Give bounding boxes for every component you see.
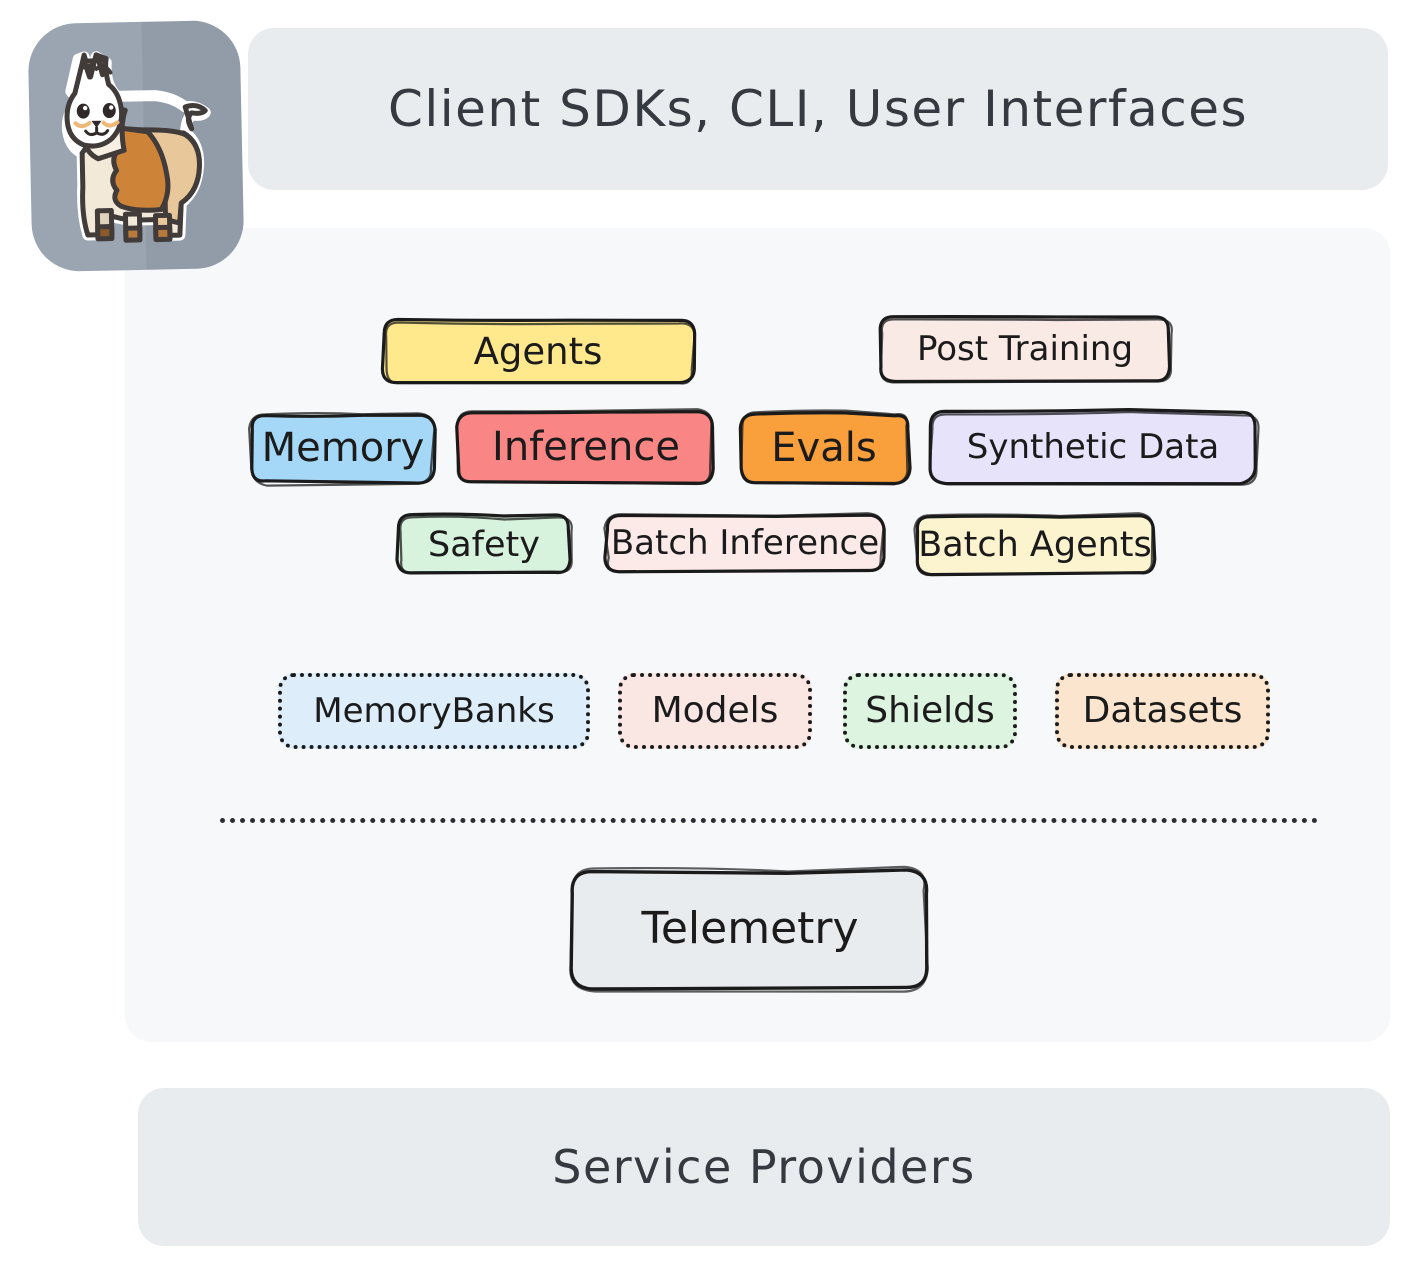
resource-box-models[interactable]: Models (618, 673, 812, 749)
box-label: Memory (262, 428, 425, 468)
architecture-diagram: Client SDKs, CLI, User Interfaces (0, 0, 1410, 1268)
resource-box-label: Models (652, 693, 779, 729)
telemetry-box[interactable]: Telemetry (570, 868, 930, 990)
resource-box-shields[interactable]: Shields (843, 673, 1017, 749)
resource-box-label: Datasets (1083, 693, 1243, 729)
api-box-synthetic-data[interactable]: Synthetic Data (928, 410, 1258, 484)
box-label: Batch Agents (918, 528, 1152, 563)
resource-box-label: MemoryBanks (313, 694, 554, 728)
api-box-evals[interactable]: Evals (738, 412, 910, 484)
api-box-memory[interactable]: Memory (250, 412, 436, 484)
api-box-batch-agents[interactable]: Batch Agents (915, 514, 1155, 576)
box-label: Evals (771, 428, 876, 468)
footer-title: Service Providers (552, 1140, 976, 1194)
telemetry-label: Telemetry (641, 907, 858, 951)
header-title: Client SDKs, CLI, User Interfaces (388, 80, 1248, 138)
box-label: Safety (428, 528, 540, 563)
section-divider (220, 818, 1318, 823)
box-label: Batch Inference (611, 526, 879, 560)
api-box-agents[interactable]: Agents (382, 318, 694, 384)
resource-box-memorybanks[interactable]: MemoryBanks (278, 673, 590, 749)
llama-logo-tile (27, 20, 244, 272)
client-interfaces-band: Client SDKs, CLI, User Interfaces (248, 28, 1388, 190)
llama-icon (34, 32, 235, 262)
box-label: Inference (492, 427, 680, 467)
resource-box-label: Shields (865, 693, 994, 729)
api-box-safety[interactable]: Safety (396, 514, 572, 576)
service-providers-band: Service Providers (138, 1088, 1390, 1246)
resource-box-datasets[interactable]: Datasets (1055, 673, 1270, 749)
api-box-inference[interactable]: Inference (458, 410, 714, 484)
box-label: Post Training (917, 332, 1133, 366)
box-label: Synthetic Data (967, 430, 1220, 464)
api-box-post-training[interactable]: Post Training (878, 316, 1172, 382)
api-box-batch-inference[interactable]: Batch Inference (605, 512, 885, 574)
box-label: Agents (474, 333, 603, 370)
